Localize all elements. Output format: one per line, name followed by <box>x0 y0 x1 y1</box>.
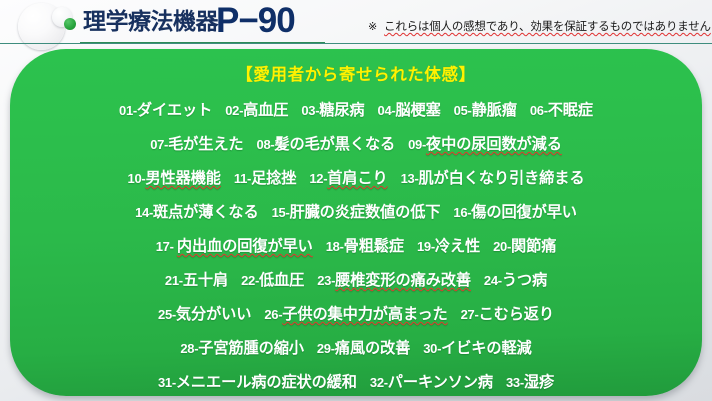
testimonial-number: 06- <box>530 103 548 118</box>
testimonial-label: 子宮筋腫の縮小 <box>198 340 304 357</box>
testimonial-label: 髪の毛が黒くなる <box>274 136 395 153</box>
testimonial-item: 08-髪の毛が黒くなる <box>257 136 396 153</box>
testimonial-number: 30- <box>423 341 441 356</box>
testimonial-item: 25-気分がいい <box>158 306 251 323</box>
testimonial-label: 子供の集中力が高まった <box>282 306 447 323</box>
testimonial-number: 10- <box>128 171 146 186</box>
testimonial-item: 24-うつ病 <box>484 272 547 289</box>
brand-title: 理学療法機器 <box>83 7 218 35</box>
testimonial-item: 28-子宮筋腫の縮小 <box>180 340 304 357</box>
testimonial-label: 気分がいい <box>176 306 251 323</box>
testimonial-item: 14-斑点が薄くなる <box>135 204 259 221</box>
testimonial-line: 17- 内出血の回復が早い18-骨粗鬆症19-冷え性20-関節痛 <box>26 230 686 264</box>
testimonial-label: 湿疹 <box>524 374 554 391</box>
testimonial-item: 30-イビキの軽減 <box>423 340 531 357</box>
testimonial-item: 21-五十肩 <box>165 272 228 289</box>
testimonial-number: 14- <box>135 205 153 220</box>
testimonial-label: 低血圧 <box>259 272 304 289</box>
testimonial-item: 22-低血圧 <box>241 272 304 289</box>
testimonial-label: ダイエット <box>137 102 212 119</box>
testimonial-number: 08- <box>257 137 275 152</box>
testimonial-item: 01-ダイエット <box>119 102 212 119</box>
green-bullet-icon <box>64 18 76 30</box>
testimonial-number: 01- <box>119 103 137 118</box>
testimonial-number: 03- <box>301 103 319 118</box>
testimonial-item: 16-傷の回復が早い <box>453 204 577 221</box>
testimonial-item: 33-湿疹 <box>506 374 554 391</box>
testimonial-item: 18-骨粗鬆症 <box>326 238 404 255</box>
testimonial-label: 痛風の改善 <box>335 340 410 357</box>
testimonial-label: 肌が白くなり引き締まる <box>418 170 584 187</box>
testimonial-number: 24- <box>484 273 502 288</box>
testimonial-number: 13- <box>401 171 419 186</box>
header-divider <box>0 43 712 44</box>
testimonial-item: 04-脳梗塞 <box>378 102 441 119</box>
testimonial-number: 23- <box>317 273 335 288</box>
testimonial-item: 23-腰椎変形の痛み改善 <box>317 272 471 289</box>
testimonial-number: 22- <box>241 273 259 288</box>
testimonial-label: こむら返り <box>479 306 554 323</box>
testimonial-label: イビキの軽減 <box>441 340 532 357</box>
testimonial-label: 腰椎変形の痛み改善 <box>335 272 471 289</box>
testimonial-item: 31-メニエール病の症状の緩和 <box>158 374 357 391</box>
testimonial-label: 斑点が薄くなる <box>153 204 259 221</box>
testimonial-label: 内出血の回復が早い <box>177 238 313 255</box>
testimonial-number: 29- <box>317 341 335 356</box>
testimonial-label: 肝臓の炎症数値の低下 <box>290 204 441 221</box>
testimonial-line: 10-男性器機能11-足捻挫12-首肩こり13-肌が白くなり引き締まる <box>26 162 686 196</box>
testimonial-label: 毛が生えた <box>168 136 243 153</box>
testimonial-item: 27-こむら返り <box>461 306 554 323</box>
testimonial-number: 11- <box>234 171 251 186</box>
testimonial-number: 27- <box>461 307 479 322</box>
disclaimer: ※これらは個人の感想であり、効果を保証するものではありません <box>368 18 711 34</box>
testimonial-item: 09-夜中の尿回数が減る <box>408 136 562 153</box>
testimonial-number: 21- <box>165 273 183 288</box>
testimonial-number: 18- <box>326 239 344 254</box>
testimonial-label: 糖尿病 <box>319 102 364 119</box>
testimonial-item: 07-毛が生えた <box>150 136 243 153</box>
testimonial-label: 首肩こり <box>327 170 387 187</box>
page-header: 理学療法機器 P−90 ※これらは個人の感想であり、効果を保証するものではありま… <box>0 0 712 47</box>
testimonial-item: 02-高血圧 <box>225 102 288 119</box>
testimonial-number: 20- <box>493 239 511 254</box>
panel-title: 【愛用者から寄せられた体感】 <box>10 61 702 85</box>
testimonial-item: 11-足捻挫 <box>234 170 296 187</box>
testimonial-number: 31- <box>158 375 176 390</box>
testimonial-label: 脳梗塞 <box>395 102 440 119</box>
testimonial-item: 26-子供の集中力が高まった <box>264 306 447 323</box>
testimonial-list: 01-ダイエット02-高血圧03-糖尿病04-脳梗塞05-静脈瘤06-不眠症07… <box>10 94 702 396</box>
testimonial-number: 28- <box>180 341 198 356</box>
testimonial-item: 03-糖尿病 <box>301 102 364 119</box>
testimonial-number: 04- <box>378 103 396 118</box>
testimonial-number: 26- <box>264 307 282 322</box>
testimonial-number: 09- <box>408 137 426 152</box>
testimonial-label: 男性器機能 <box>145 170 220 187</box>
testimonial-label: うつ病 <box>502 272 547 289</box>
testimonial-number: 15- <box>272 205 290 220</box>
testimonial-number: 33- <box>506 375 524 390</box>
testimonial-item: 06-不眠症 <box>530 102 593 119</box>
testimonial-item: 17- 内出血の回復が早い <box>156 238 313 255</box>
testimonial-number: 12- <box>309 171 327 186</box>
testimonial-line: 14-斑点が薄くなる15-肝臓の炎症数値の低下16-傷の回復が早い <box>26 196 686 230</box>
testimonial-item: 15-肝臓の炎症数値の低下 <box>272 204 441 221</box>
testimonial-item: 29-痛風の改善 <box>317 340 410 357</box>
testimonial-number: 05- <box>454 103 472 118</box>
testimonial-line: 01-ダイエット02-高血圧03-糖尿病04-脳梗塞05-静脈瘤06-不眠症 <box>26 94 686 128</box>
testimonial-label: 冷え性 <box>435 238 480 255</box>
testimonial-item: 10-男性器機能 <box>128 170 221 187</box>
testimonial-line: 21-五十肩22-低血圧23-腰椎変形の痛み改善24-うつ病 <box>26 264 686 298</box>
testimonial-number: 17- <box>156 239 177 254</box>
testimonial-number: 07- <box>150 137 168 152</box>
testimonial-label: 静脈瘤 <box>472 102 517 119</box>
testimonial-label: 不眠症 <box>548 102 593 119</box>
testimonial-item: 12-首肩こり <box>309 170 387 187</box>
testimonial-line: 31-メニエール病の症状の緩和32-パーキンソン病33-湿疹 <box>26 366 686 396</box>
testimonial-line: 28-子宮筋腫の縮小29-痛風の改善30-イビキの軽減 <box>26 332 686 366</box>
testimonial-item: 13-肌が白くなり引き締まる <box>401 170 585 187</box>
testimonial-item: 20-関節痛 <box>493 238 556 255</box>
testimonial-number: 02- <box>225 103 243 118</box>
testimonial-label: 骨粗鬆症 <box>344 238 404 255</box>
testimonial-number: 19- <box>417 239 435 254</box>
testimonial-label: 足捻挫 <box>251 170 296 187</box>
testimonial-number: 25- <box>158 307 176 322</box>
testimonial-label: メニエール病の症状の緩和 <box>176 374 357 391</box>
testimonial-label: 関節痛 <box>511 238 556 255</box>
testimonial-label: 高血圧 <box>243 102 288 119</box>
testimonial-label: 夜中の尿回数が減る <box>426 136 562 153</box>
testimonials-panel: 【愛用者から寄せられた体感】 01-ダイエット02-高血圧03-糖尿病04-脳梗… <box>10 49 702 396</box>
testimonial-number: 32- <box>370 375 388 390</box>
testimonial-label: 傷の回復が早い <box>471 204 577 221</box>
testimonial-item: 05-静脈瘤 <box>454 102 517 119</box>
disclaimer-text: これらは個人の感想であり、効果を保証するものではありません <box>384 21 711 33</box>
testimonial-label: パーキンソン病 <box>388 374 493 391</box>
testimonial-number: 16- <box>453 205 471 220</box>
testimonial-label: 五十肩 <box>183 272 228 289</box>
testimonial-line: 25-気分がいい26-子供の集中力が高まった27-こむら返り <box>26 298 686 332</box>
reference-mark-icon: ※ <box>368 21 377 33</box>
testimonial-item: 19-冷え性 <box>417 238 480 255</box>
brand-model: P−90 <box>216 0 295 42</box>
testimonial-item: 32-パーキンソン病 <box>370 374 493 391</box>
testimonial-line: 07-毛が生えた08-髪の毛が黒くなる09-夜中の尿回数が減る <box>26 128 686 162</box>
